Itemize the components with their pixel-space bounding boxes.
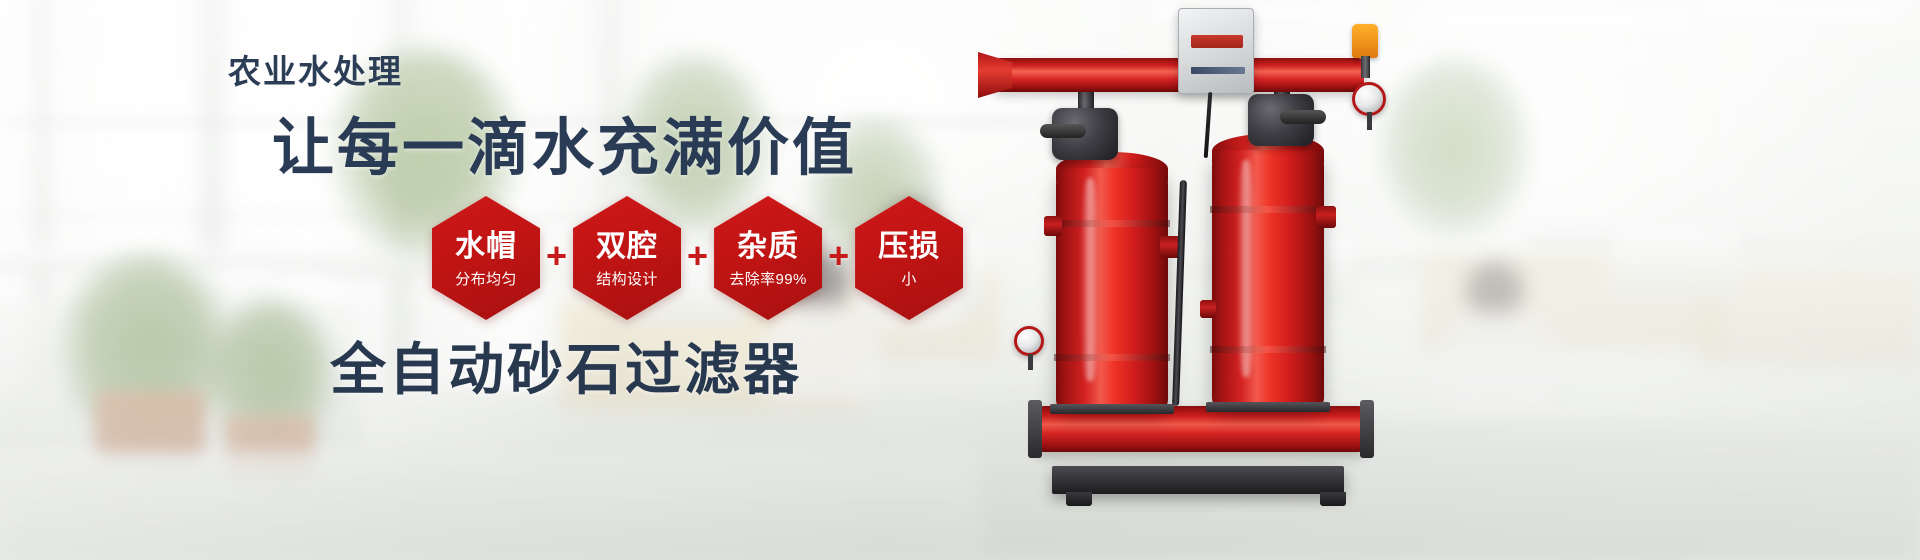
feature-badge-3: 杂质 去除率99% (714, 196, 822, 320)
controller-display (1191, 35, 1243, 48)
badge-title: 杂质 (737, 231, 799, 263)
tank-band (1054, 220, 1170, 227)
product-manifold-flange (1360, 400, 1374, 458)
feature-badge-4: 压损 小 (855, 196, 963, 320)
badge-subtitle: 小 (901, 268, 916, 289)
product-tank-flange (1050, 404, 1174, 414)
product-base-foot (1320, 492, 1346, 506)
badge-title: 水帽 (455, 231, 517, 263)
product-hose (1172, 180, 1187, 406)
valve-handle (1040, 124, 1086, 138)
product-valve (1052, 108, 1118, 160)
product-relief-valve (1352, 24, 1378, 58)
product-manifold-flange (1028, 400, 1042, 458)
product-controller-box (1178, 8, 1254, 94)
badge-subtitle: 去除率99% (729, 268, 806, 289)
product-control-cable (1204, 92, 1213, 158)
product-base-foot (1066, 492, 1092, 506)
product-sand-gravel-filter (1000, 0, 1560, 560)
plus-separator-1: + (546, 238, 567, 278)
tank-highlight (1237, 160, 1255, 377)
product-base-plate (1052, 466, 1344, 494)
tank-band (1054, 354, 1170, 361)
tank-highlight (1081, 178, 1099, 381)
product-nozzle (1316, 206, 1336, 228)
badge-subtitle: 结构设计 (596, 268, 658, 289)
promo-banner: 农业水处理 让每一滴水充满价值 水帽 分布均匀 + 双腔 结构设计 + 杂质 去… (0, 0, 1920, 560)
product-relief-stem (1361, 56, 1370, 78)
banner-product-title: 全自动砂石过滤器 (330, 325, 802, 406)
product-tank-flange (1206, 402, 1330, 412)
valve-handle (1280, 110, 1326, 124)
banner-headline: 让每一滴水充满价值 (272, 97, 857, 187)
product-nozzle (1200, 300, 1216, 318)
badge-title: 双腔 (596, 231, 658, 263)
gauge-stem (1367, 112, 1372, 130)
product-filter-tank (1212, 150, 1324, 408)
product-filter-tank (1056, 168, 1168, 410)
product-pressure-gauge (1352, 82, 1386, 116)
tank-band (1210, 346, 1326, 353)
badge-subtitle: 分布均匀 (455, 268, 517, 289)
feature-badge-row: 水帽 分布均匀 + 双腔 结构设计 + 杂质 去除率99% + 压损 小 (432, 196, 963, 320)
banner-eyebrow: 农业水处理 (228, 45, 403, 93)
badge-title: 压损 (878, 231, 940, 263)
tank-band (1210, 206, 1326, 213)
plus-separator-3: + (828, 238, 849, 278)
feature-badge-1: 水帽 分布均匀 (432, 196, 540, 320)
product-valve (1248, 94, 1314, 146)
banner-content: 农业水处理 让每一滴水充满价值 水帽 分布均匀 + 双腔 结构设计 + 杂质 去… (0, 0, 1030, 560)
plus-separator-2: + (687, 238, 708, 278)
controller-brand-label (1191, 67, 1245, 74)
product-nozzle (1044, 216, 1062, 236)
feature-badge-2: 双腔 结构设计 (573, 196, 681, 320)
